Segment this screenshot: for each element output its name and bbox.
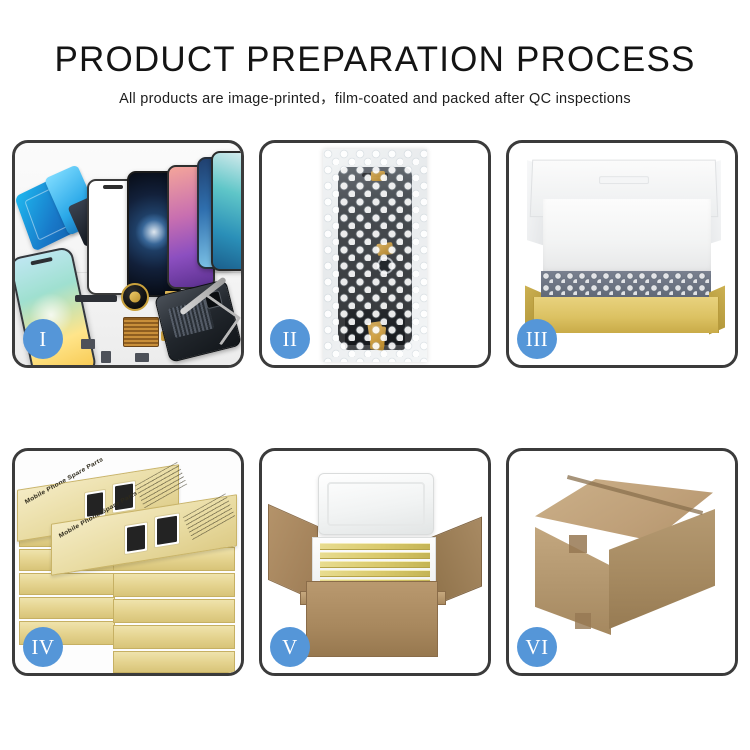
process-step-panel-6[interactable]: VI <box>506 448 738 676</box>
process-step-panel-5[interactable]: V <box>259 448 491 676</box>
connector-array-icon <box>123 317 159 347</box>
styrofoam-lid-icon <box>318 473 434 535</box>
page-title: PRODUCT PREPARATION PROCESS <box>0 40 750 80</box>
bubble-wrap-bag-icon <box>323 149 427 362</box>
small-chip-icon <box>101 351 111 363</box>
yellow-box-row <box>320 543 430 550</box>
stacked-box-edge <box>19 573 115 595</box>
product-preparation-process-page: PRODUCT PREPARATION PROCESS All products… <box>0 0 750 750</box>
stacked-box-edge <box>19 597 115 619</box>
bubble-wrap-layer-icon <box>541 271 711 299</box>
header: PRODUCT PREPARATION PROCESS All products… <box>0 40 750 108</box>
step-badge-2: II <box>270 319 310 359</box>
carton-body <box>306 581 438 657</box>
stacked-box-edge <box>113 573 235 597</box>
yellow-box-row <box>320 561 430 568</box>
step-badge-3: III <box>517 319 557 359</box>
stacked-box-edge <box>113 625 235 649</box>
kraft-box-front <box>533 297 719 333</box>
carton-tape-patch <box>575 613 591 629</box>
screen-artwork-thumb <box>154 512 180 548</box>
stacked-box-edge <box>113 599 235 623</box>
foam-sheet-icon <box>543 199 711 273</box>
small-chip-icon <box>81 339 95 349</box>
step-badge-1: I <box>23 319 63 359</box>
yellow-box-row <box>320 552 430 559</box>
stacked-box-edge <box>113 651 235 673</box>
camera-module-icon <box>121 283 149 311</box>
carton-tape-patch <box>569 535 587 553</box>
step-badge-4: IV <box>23 627 63 667</box>
process-step-panel-2[interactable]: II <box>259 140 491 368</box>
bubble-texture <box>323 149 427 362</box>
process-step-panel-3[interactable]: III <box>506 140 738 368</box>
process-step-grid: I II <box>12 140 738 680</box>
lid-tab <box>599 176 649 184</box>
page-subtitle: All products are image-printed，film-coat… <box>0 90 750 108</box>
spec-text-lines <box>183 493 235 540</box>
process-step-panel-1[interactable]: I <box>12 140 244 368</box>
spec-text-lines <box>135 462 187 509</box>
ribbon-cable-icon <box>75 295 117 302</box>
small-chip-icon <box>135 353 149 362</box>
step-badge-5: V <box>270 627 310 667</box>
process-step-panel-4[interactable]: Mobile Phone Spare Parts Mobile Phone Sp… <box>12 448 244 676</box>
screen-artwork-thumb <box>124 521 148 555</box>
step-badge-6: VI <box>517 627 557 667</box>
yellow-box-row <box>320 570 430 577</box>
teal-screen-icon <box>211 151 241 271</box>
